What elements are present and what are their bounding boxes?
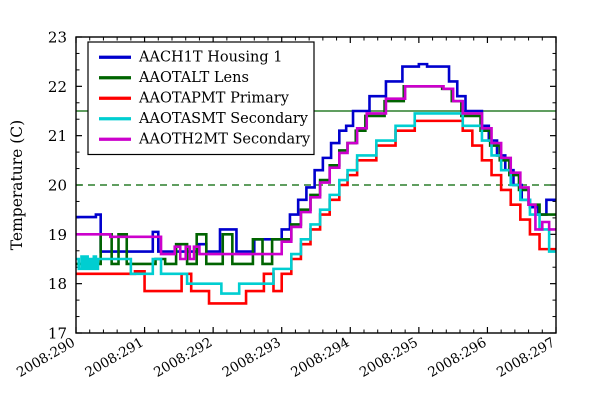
plot-canvas: 171819202122232008:2902008:2912008:29220… — [0, 0, 612, 412]
x-tick-label: 2008:297 — [494, 335, 558, 381]
legend-label-1: AAOTALT Lens — [138, 70, 249, 86]
x-tick-label: 2008:294 — [288, 335, 352, 381]
legend-label-3: AAOTASMT Secondary — [138, 111, 309, 127]
y-axis-title: Temperature (C) — [8, 120, 26, 250]
x-tick-label: 2008:293 — [220, 335, 284, 381]
y-tick-label: 22 — [48, 78, 67, 96]
y-tick-label: 20 — [48, 177, 67, 195]
x-tick-label: 2008:292 — [151, 335, 215, 381]
y-tick-label: 21 — [48, 127, 67, 145]
chart-figure: 171819202122232008:2902008:2912008:29220… — [0, 0, 612, 412]
x-tick-label: 2008:290 — [14, 335, 78, 381]
x-tick-label: 2008:291 — [83, 335, 147, 381]
y-tick-label: 18 — [48, 275, 67, 293]
legend[interactable]: AACH1T Housing 1AAOTALT LensAAOTAPMT Pri… — [88, 42, 314, 155]
y-tick-label: 23 — [48, 29, 67, 47]
x-tick-label: 2008:296 — [425, 335, 489, 381]
x-tick-label: 2008:295 — [357, 335, 421, 381]
legend-label-0: AACH1T Housing 1 — [138, 49, 282, 65]
legend-label-2: AAOTAPMT Primary — [138, 90, 290, 106]
legend-label-4: AAOTH2MT Secondary — [138, 131, 311, 147]
y-tick-label: 19 — [48, 226, 67, 244]
